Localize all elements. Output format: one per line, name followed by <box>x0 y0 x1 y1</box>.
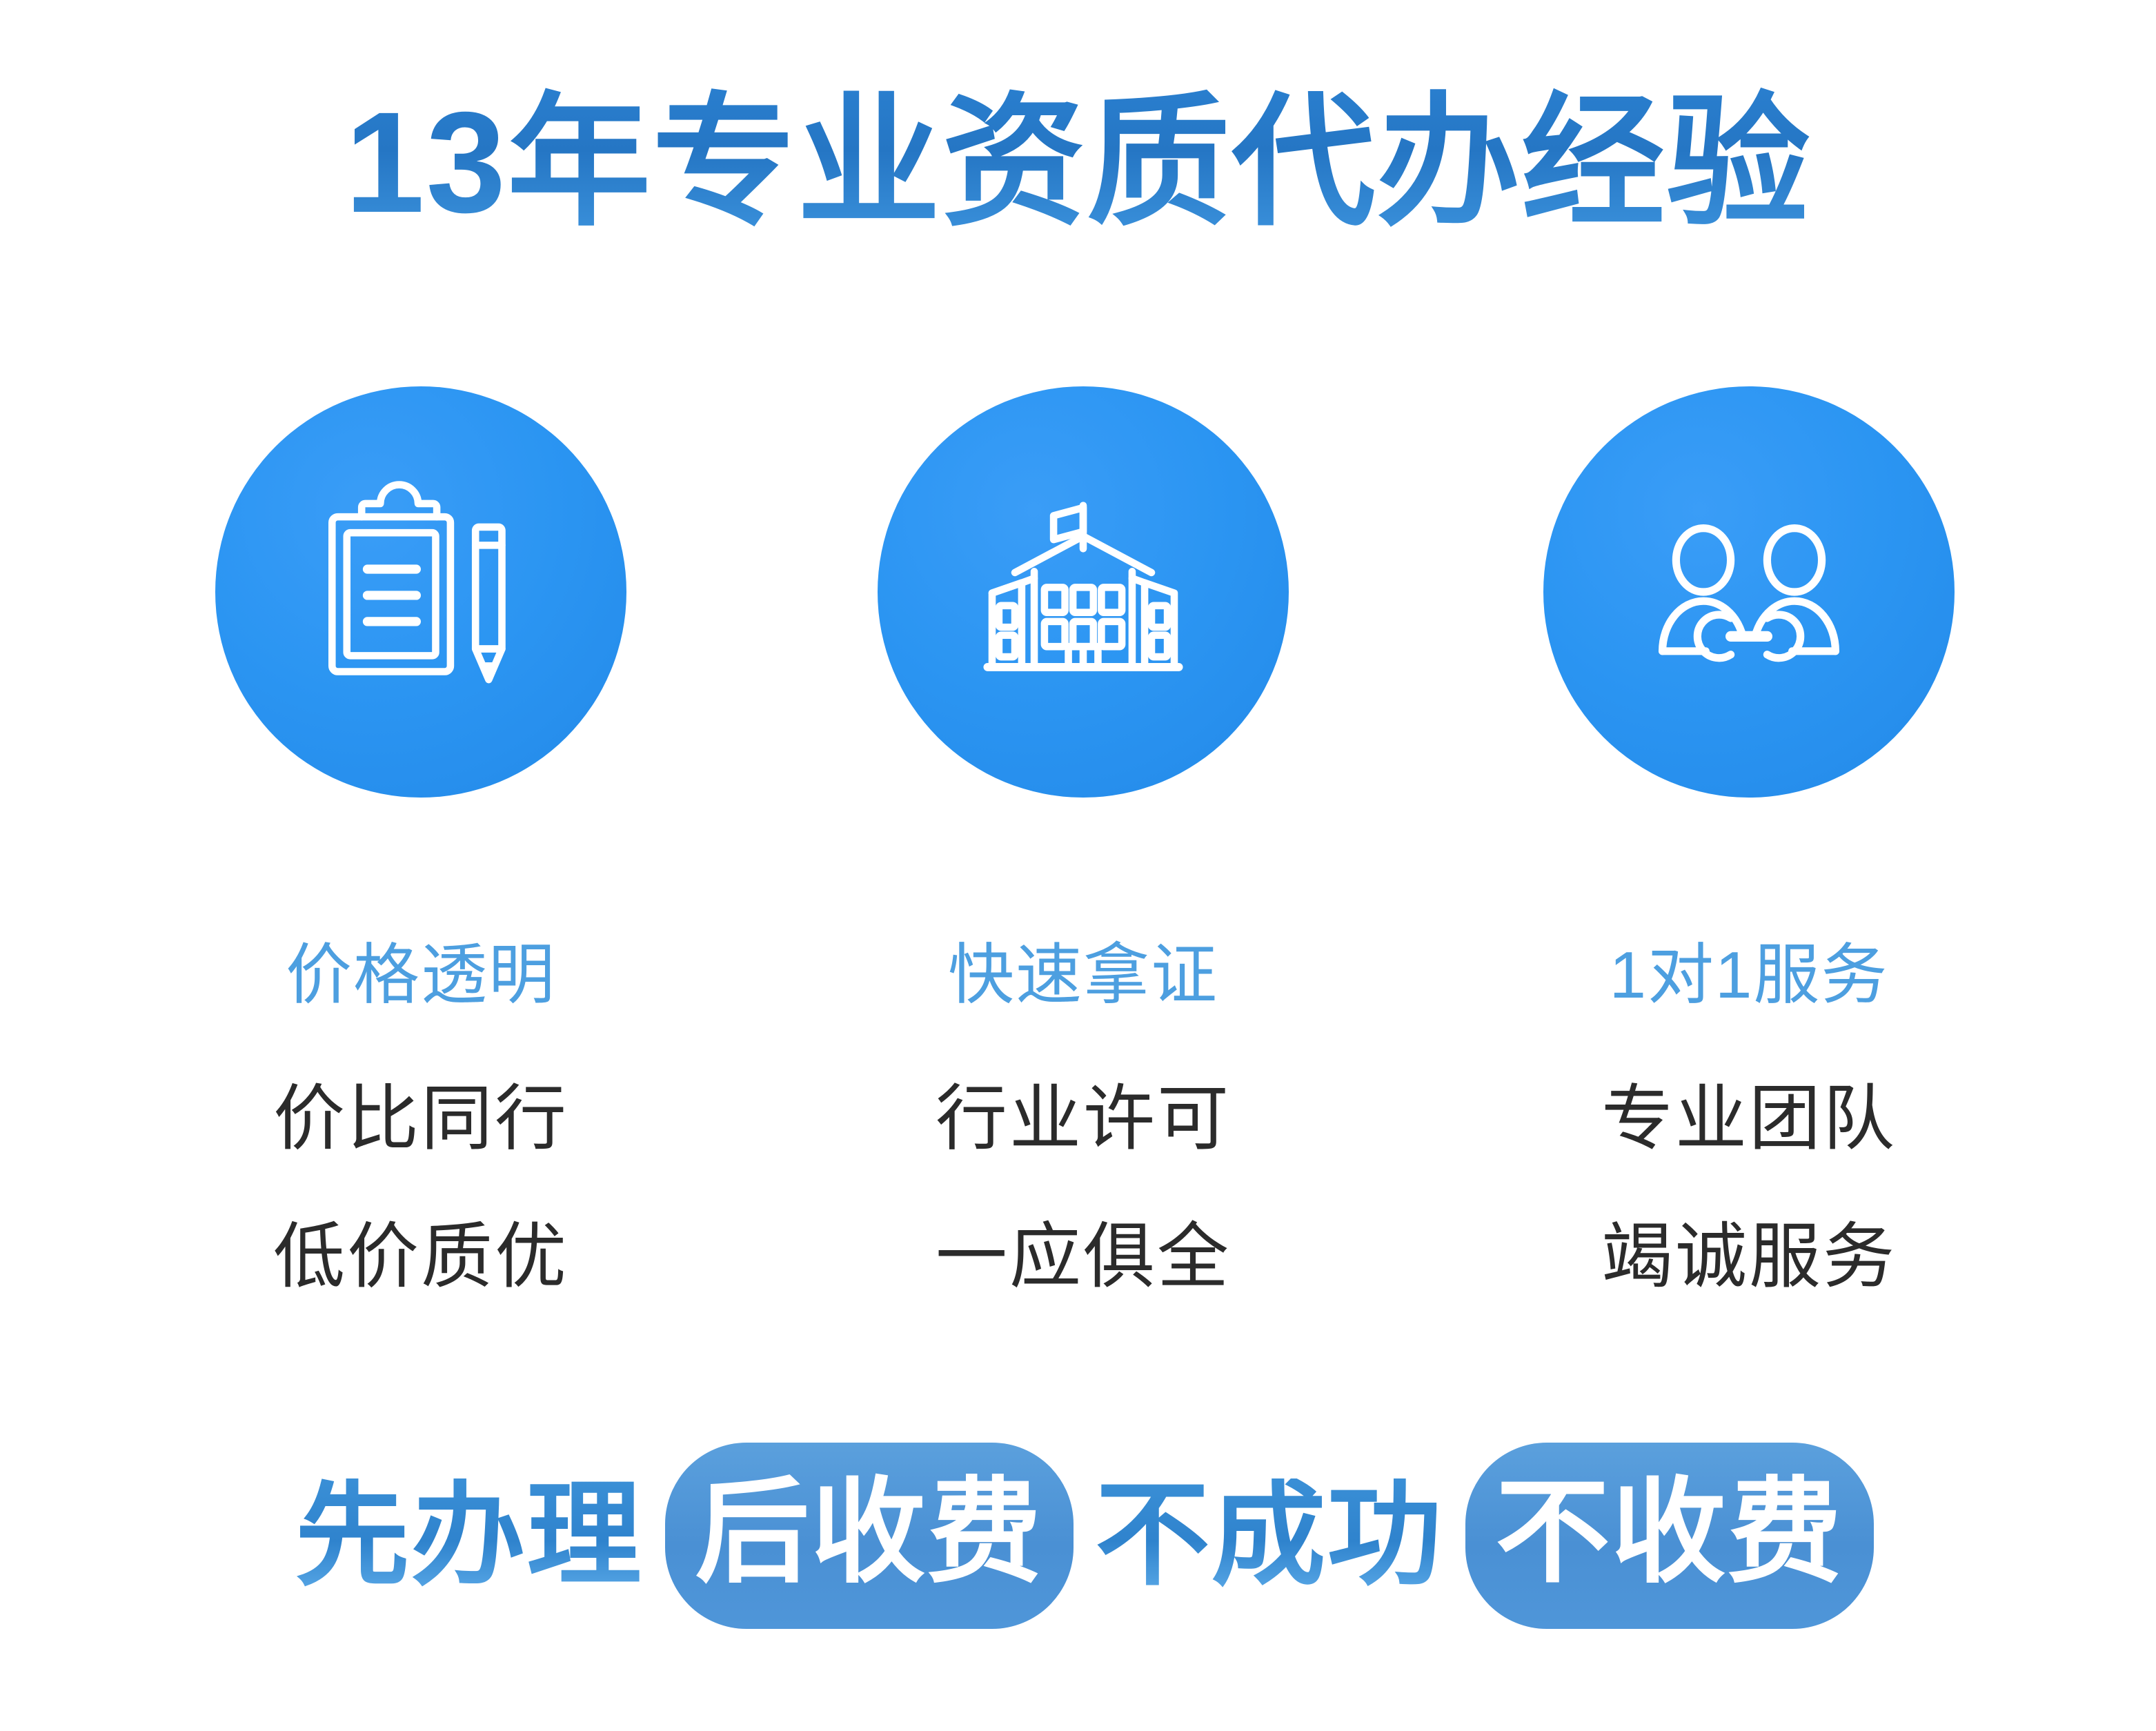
feature-column-price-transparency: 价格透明 价比同行 低价质优 <box>97 386 745 1293</box>
page-title: 13年专业资质代办经验 <box>345 83 1811 244</box>
slogan-segment-first-handle: 先办理 <box>283 1478 655 1593</box>
slogan-segment-if-unsuccessful: 不成功 <box>1083 1478 1456 1593</box>
feature-lines: 行业许可 一应俱全 <box>936 1083 1231 1293</box>
feature-lines: 专业团队 竭诚服务 <box>1601 1083 1897 1293</box>
icon-badge-fast-certification <box>878 386 1289 798</box>
slogan-banner: 先办理 后收费 不成功 不收费 <box>0 1443 2156 1629</box>
promo-poster: 13年专业资质代办经验 <box>0 0 2156 1731</box>
icon-badge-one-on-one-service <box>1543 386 1955 798</box>
feature-line: 专业团队 <box>1601 1083 1897 1155</box>
feature-columns: 价格透明 价比同行 低价质优 <box>103 386 2053 1293</box>
feature-column-fast-certification: 快速拿证 行业许可 一应俱全 <box>759 386 1407 1293</box>
icon-badge-price-transparency <box>215 386 626 798</box>
feature-column-one-on-one-service: 1对1服务 专业团队 竭诚服务 <box>1425 386 2073 1293</box>
feature-heading: 快速拿证 <box>948 942 1218 1009</box>
feature-heading: 1对1服务 <box>1610 942 1889 1009</box>
feature-heading: 价格透明 <box>286 942 556 1009</box>
feature-line: 一应俱全 <box>936 1221 1231 1293</box>
slogan-segment-no-charge: 不收费 <box>1465 1443 1874 1629</box>
slogan-segment-pay-later: 后收费 <box>665 1443 1074 1629</box>
feature-line: 低价质优 <box>273 1221 568 1293</box>
feature-line: 竭诚服务 <box>1601 1221 1897 1293</box>
feature-lines: 价比同行 低价质优 <box>273 1083 568 1293</box>
clipboard-pencil-icon <box>307 478 535 706</box>
government-building-flag-icon <box>969 478 1197 706</box>
two-people-link-icon <box>1635 478 1863 706</box>
feature-line: 行业许可 <box>936 1083 1231 1155</box>
title-wrap: 13年专业资质代办经验 <box>0 83 2156 244</box>
feature-line: 价比同行 <box>273 1083 568 1155</box>
